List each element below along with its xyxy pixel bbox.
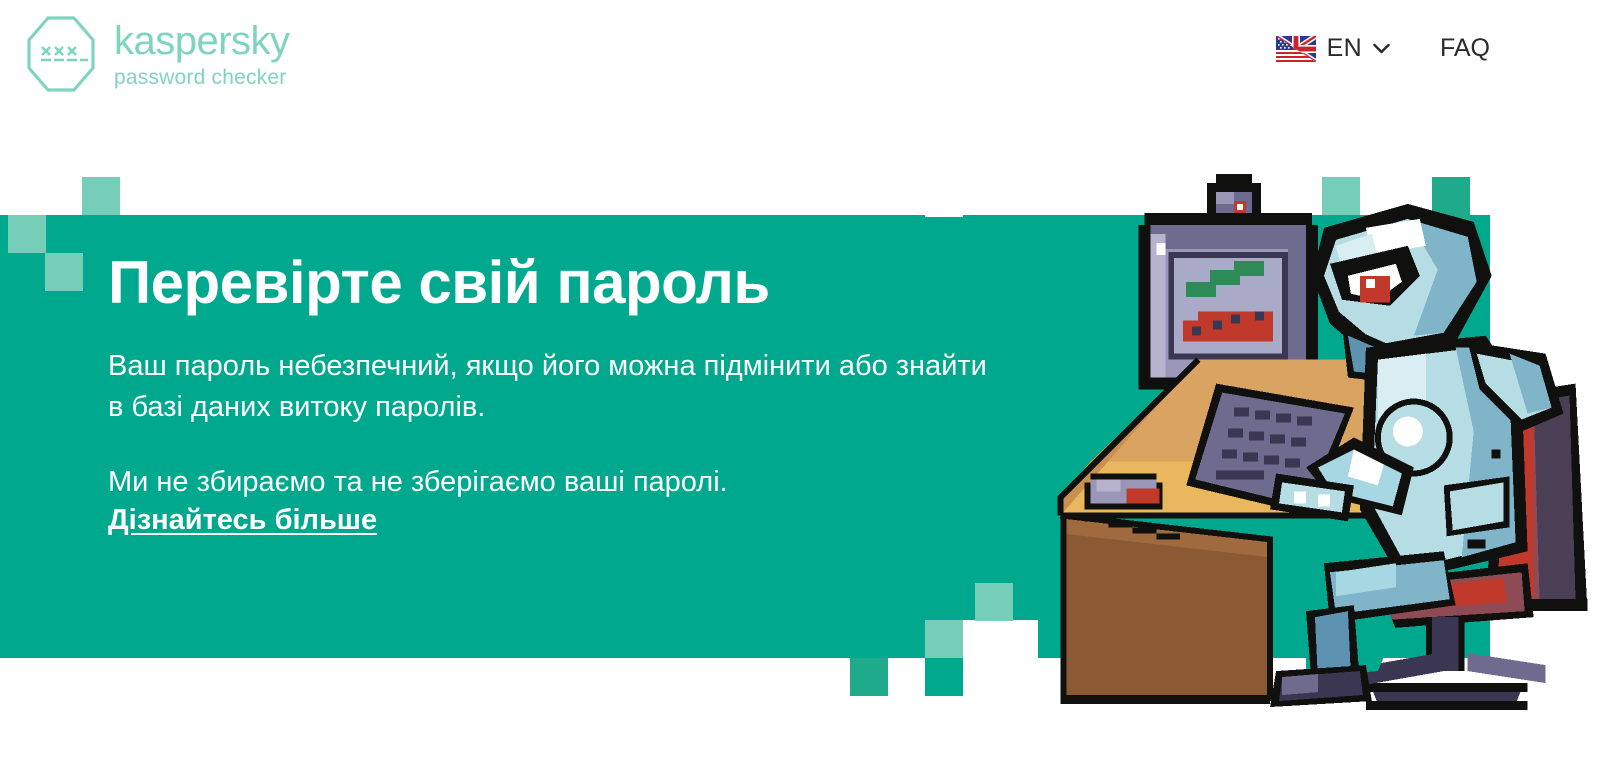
pixel-block-decor [975, 583, 1013, 621]
pixel-art-alien-at-desk-illustration [1018, 162, 1600, 710]
brand-logo[interactable]: kaspersky password checker [22, 14, 290, 94]
pixel-block-decor [82, 177, 120, 215]
brand-name: kaspersky [114, 21, 290, 61]
learn-more-link[interactable]: Дізнайтесь більше [108, 504, 377, 537]
pixel-block-decor [925, 179, 963, 217]
kaspersky-hexagon-xxx-logo-icon [22, 14, 100, 94]
language-code: EN [1327, 34, 1362, 63]
header-nav: EN FAQ [1276, 34, 1490, 63]
language-selector[interactable]: EN [1276, 34, 1390, 63]
hero-paragraph-1: Ваш пароль небезпечний, якщо його можна … [108, 346, 1008, 428]
faq-link[interactable]: FAQ [1440, 34, 1490, 63]
alien-desk-artwork [1018, 162, 1600, 710]
hero-title: Перевірте свій пароль [108, 251, 1008, 314]
pixel-block-decor [925, 658, 963, 696]
hero-paragraph-2: Ми не збираємо та не зберігаємо ваші пар… [108, 462, 1008, 503]
page-root: kaspersky password checker [0, 0, 1600, 759]
hero-copy: Перевірте свій пароль Ваш пароль небезпе… [108, 251, 1008, 537]
brand-subtitle: password checker [114, 67, 290, 88]
pixel-block-decor [8, 215, 46, 253]
brand-text: kaspersky password checker [114, 21, 290, 88]
pixel-block-decor [925, 620, 963, 658]
site-header: kaspersky password checker [0, 0, 1600, 110]
pixel-block-decor [45, 253, 83, 291]
chevron-down-icon [1373, 43, 1390, 54]
us-uk-flag-icon [1276, 36, 1316, 62]
pixel-block-decor [850, 658, 888, 696]
